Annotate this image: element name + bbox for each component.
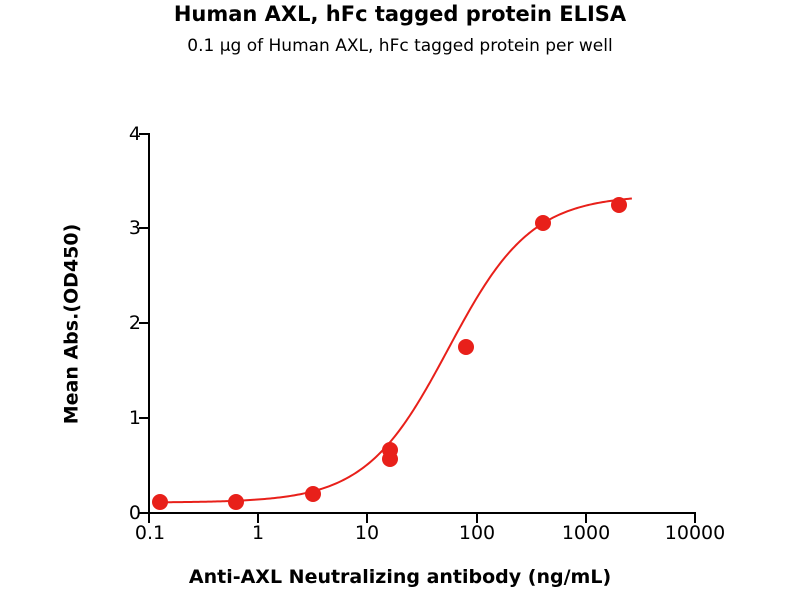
y-tick-label-2: 2 [129,312,141,334]
data-point [305,486,321,502]
y-tick-label-3: 3 [129,217,141,239]
chart-root: Human AXL, hFc tagged protein ELISA 0.1 … [0,0,800,600]
y-tick-label-1: 1 [129,407,141,429]
data-point [228,494,244,510]
data-point [382,451,398,467]
x-axis-title: Anti-AXL Neutralizing antibody (ng/mL) [0,566,800,588]
y-axis-title-text: Mean Abs.(OD450) [60,223,82,424]
data-point [611,197,627,213]
x-tick-label-3: 100 [459,522,495,544]
x-tick-label-1: 1 [252,522,264,544]
data-point [152,494,168,510]
x-tick-label-4: 1000 [562,522,610,544]
y-axis-title: Mean Abs.(OD450) [58,133,84,514]
y-tick-label-4: 4 [129,123,141,145]
data-point [458,339,474,355]
chart-subtitle: 0.1 μg of Human AXL, hFc tagged protein … [0,36,800,56]
fit-curve [148,133,696,514]
plot-area: 0 1 2 3 4 0.1 1 10 100 1000 10000 [148,133,696,514]
x-tick-label-2: 10 [355,522,379,544]
data-point [535,215,551,231]
x-tick-label-0: 0.1 [135,522,165,544]
x-tick-label-5: 10000 [665,522,725,544]
y-tick-label-0: 0 [129,502,141,524]
chart-title: Human AXL, hFc tagged protein ELISA [0,2,800,26]
